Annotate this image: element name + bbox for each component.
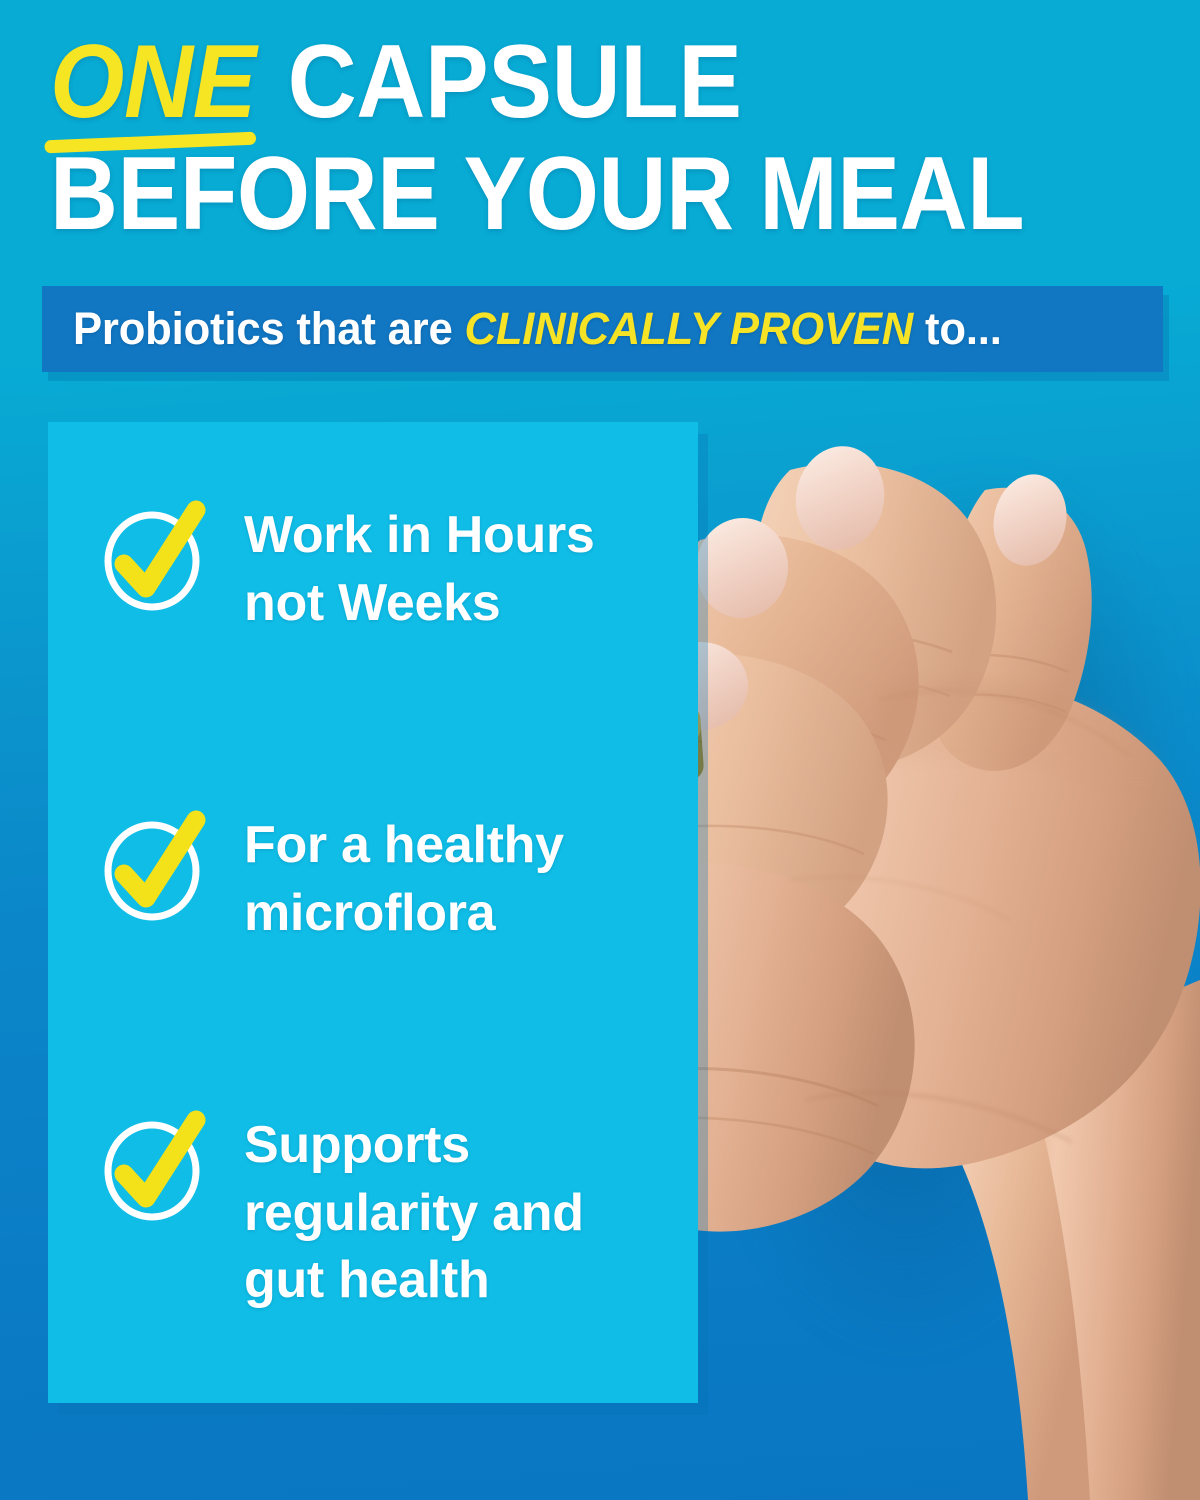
benefit-text-2: For a healthy microflora xyxy=(244,812,564,947)
benefit-3-line-3: gut health xyxy=(244,1251,489,1309)
subtitle-band: Probiotics that are CLINICALLY PROVEN to… xyxy=(42,286,1163,372)
benefit-3-line-1: Supports xyxy=(244,1116,470,1174)
headline-line-1: ONE CAPSULE xyxy=(50,34,1080,132)
check-circle-icon xyxy=(100,816,204,920)
benefit-item-3: Supports regularity and gut health xyxy=(100,1112,584,1315)
headline-line-2: BEFORE YOUR MEAL xyxy=(50,146,1064,244)
benefit-item-1: Work in Hours not Weeks xyxy=(100,502,595,637)
benefits-card: Work in Hours not Weeks For a healthy mi… xyxy=(48,422,698,1403)
benefit-1-line-2: not Weeks xyxy=(244,574,500,632)
benefit-1-line-1: Work in Hours xyxy=(244,506,595,564)
benefit-2-line-2: microflora xyxy=(244,884,495,942)
headline-emphasis-text: ONE xyxy=(50,24,256,140)
benefit-text-3: Supports regularity and gut health xyxy=(244,1112,584,1315)
headline-emphasis-one: ONE xyxy=(50,34,261,132)
headline-line-1-rest: CAPSULE xyxy=(261,24,741,140)
benefit-3-line-2: regularity and xyxy=(244,1184,584,1242)
subtitle-text: Probiotics that are CLINICALLY PROVEN to… xyxy=(73,303,1002,355)
check-circle-icon xyxy=(100,1116,204,1220)
benefit-text-1: Work in Hours not Weeks xyxy=(244,502,595,637)
subtitle-prefix: Probiotics that are xyxy=(73,303,464,354)
benefit-2-line-1: For a healthy xyxy=(244,816,564,874)
headline: ONE CAPSULE BEFORE YOUR MEAL xyxy=(50,34,1170,244)
hand-drop-shadow xyxy=(648,470,1200,1470)
benefit-item-2: For a healthy microflora xyxy=(100,812,564,947)
check-circle-icon xyxy=(100,506,204,610)
subtitle-emphasis: CLINICALLY PROVEN xyxy=(464,303,913,354)
promo-poster: ONE CAPSULE BEFORE YOUR MEAL Probiotics … xyxy=(0,0,1200,1500)
subtitle-suffix: to... xyxy=(913,303,1002,354)
